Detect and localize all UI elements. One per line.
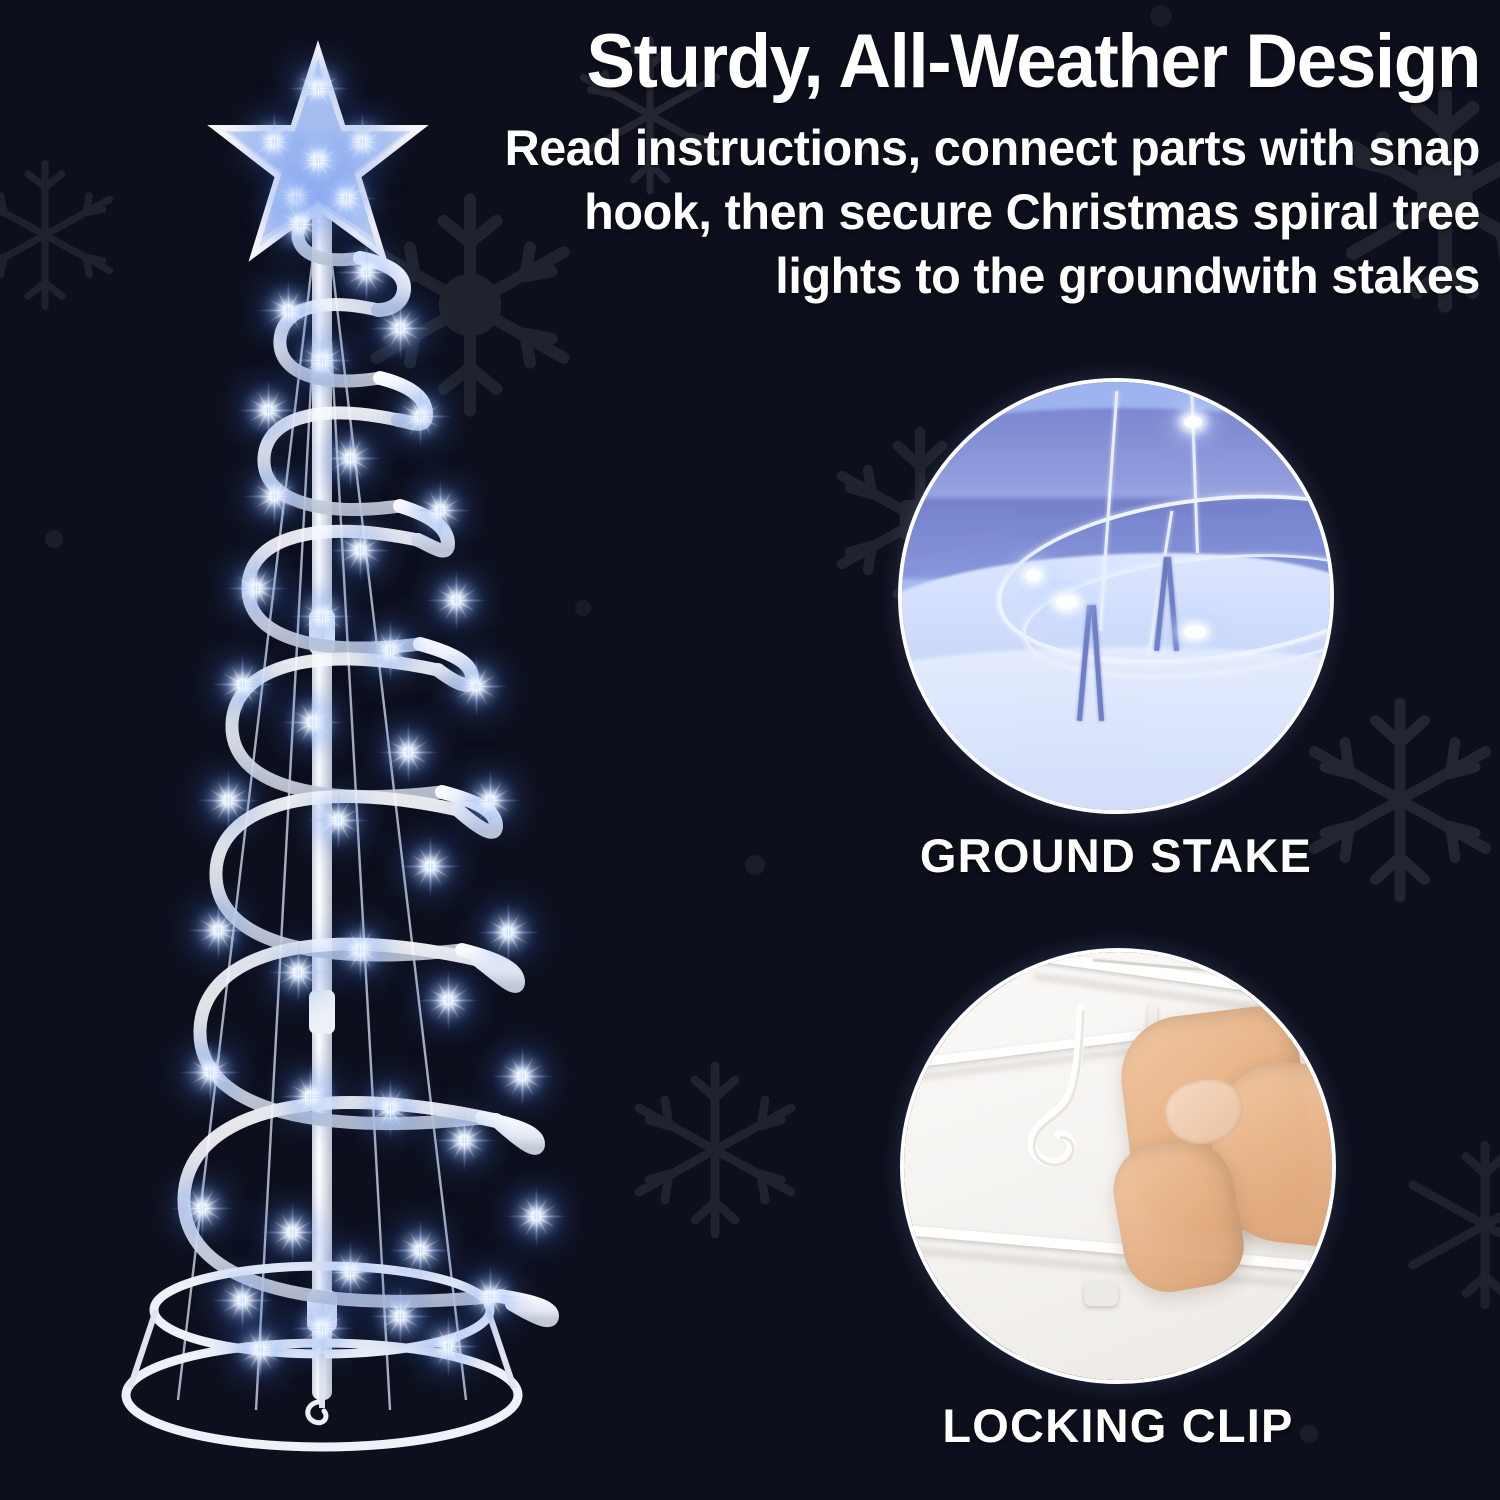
tree-led <box>443 995 454 1006</box>
tree-led <box>345 453 356 464</box>
tree-led <box>443 1341 454 1352</box>
tree-led <box>395 1311 406 1322</box>
led-spiral-tree <box>60 10 580 1480</box>
tree-led <box>255 1345 266 1356</box>
tree-led <box>517 1071 528 1082</box>
tree-led <box>395 323 406 334</box>
tree-led <box>223 795 234 806</box>
tree-led <box>355 545 366 556</box>
locking-clip-photo <box>900 948 1336 1384</box>
product-feature-banner: Sturdy, All-Weather Design Read instruct… <box>0 0 1500 1500</box>
snow-scene-art <box>902 382 1330 810</box>
tree-led <box>355 945 366 956</box>
feature-ground-stake: GROUND STAKE <box>898 378 1334 814</box>
page-subtitle: Read instructions, connect parts with sn… <box>462 116 1481 308</box>
tree-led <box>197 1203 208 1214</box>
tree-led <box>283 305 294 316</box>
snowflake-decoration <box>615 1050 815 1250</box>
tree-led <box>263 405 274 416</box>
star-led <box>341 193 352 204</box>
tree-led <box>237 679 248 690</box>
led-light <box>1056 596 1078 609</box>
tree-led <box>295 219 306 230</box>
ground-stake-photo <box>898 378 1334 814</box>
tree-led <box>317 611 328 622</box>
tree-led <box>485 1291 496 1302</box>
tree-led <box>385 1103 396 1114</box>
tree-led <box>425 861 436 872</box>
tree-led <box>269 491 280 502</box>
tree-led <box>503 927 514 938</box>
star-led <box>269 137 280 148</box>
tree-led <box>305 1091 316 1102</box>
tree-led <box>307 717 318 728</box>
tree-led <box>293 967 304 978</box>
tree-led <box>385 645 396 656</box>
feature-caption-locking-clip: LOCKING CLIP <box>900 1398 1336 1453</box>
tree-led <box>317 1323 328 1334</box>
feature-locking-clip: LOCKING CLIP <box>900 948 1336 1384</box>
tree-led <box>415 411 426 422</box>
tree-led <box>237 1295 248 1306</box>
tree-led <box>471 681 482 692</box>
tree-led <box>485 795 496 806</box>
tree-led <box>287 1227 298 1238</box>
locking-clip-art <box>904 952 1332 1380</box>
tree-led <box>345 1267 356 1278</box>
tree-led <box>459 1135 470 1146</box>
star-led <box>313 83 324 94</box>
tree-led <box>403 747 414 758</box>
headline-block: Sturdy, All-Weather Design Read instruct… <box>430 18 1480 308</box>
tree-led <box>333 815 344 826</box>
tree-led <box>415 1245 426 1256</box>
feature-caption-ground-stake: GROUND STAKE <box>898 828 1334 883</box>
tree-led <box>251 583 262 594</box>
tree-led <box>451 595 462 606</box>
tree-frame <box>60 10 580 1480</box>
star-led <box>313 155 324 166</box>
snow-dot-decoration <box>745 855 765 875</box>
star-led <box>357 137 368 148</box>
tree-led <box>317 355 328 366</box>
locking-nub <box>1084 1282 1118 1306</box>
tree-led <box>435 505 446 516</box>
tree-led <box>361 267 372 278</box>
snowflake-decoration <box>1390 1130 1500 1320</box>
tree-led <box>213 925 224 936</box>
tree-led <box>531 1211 542 1222</box>
page-title: Sturdy, All-Weather Design <box>472 18 1480 106</box>
tree-led <box>205 1067 216 1078</box>
